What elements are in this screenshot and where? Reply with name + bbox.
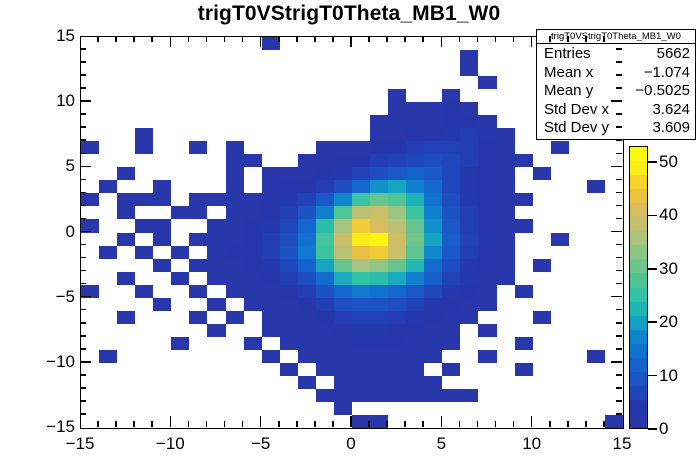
x-axis-top-tick — [531, 36, 533, 47]
x-axis-major-tick — [170, 416, 172, 427]
x-axis-top-tick — [206, 36, 208, 42]
y-axis-minor-tick — [80, 322, 86, 324]
z-axis-tick-label: 20 — [659, 312, 678, 332]
y-axis-minor-tick — [80, 179, 86, 181]
y-axis-minor-tick — [80, 413, 86, 415]
z-axis-tick — [648, 321, 657, 323]
y-axis-minor-tick — [80, 257, 86, 259]
x-axis-top-tick — [477, 36, 479, 42]
z-axis-tick — [648, 268, 657, 270]
x-axis-minor-tick — [404, 421, 406, 427]
x-axis-tick-label: 10 — [522, 434, 541, 454]
x-axis-minor-tick — [115, 421, 117, 427]
y-axis-right-tick — [616, 348, 622, 350]
x-axis-minor-tick — [133, 421, 135, 427]
y-axis-major-tick — [80, 166, 91, 168]
y-axis-minor-tick — [80, 139, 86, 141]
y-axis-right-tick — [616, 179, 622, 181]
stats-row-value: −0.5025 — [635, 82, 690, 101]
x-axis-minor-tick — [495, 421, 497, 427]
y-axis-major-tick — [80, 296, 91, 298]
y-axis-right-tick — [616, 413, 622, 415]
stats-row-value: 3.624 — [652, 101, 690, 120]
x-axis-top-tick — [224, 36, 226, 42]
y-axis-minor-tick — [80, 61, 86, 63]
x-axis-tick-label: −5 — [251, 434, 270, 454]
stats-row-key: Mean y — [544, 82, 593, 101]
x-axis-minor-tick — [386, 421, 388, 427]
x-axis-top-tick — [97, 36, 99, 42]
y-axis-right-tick — [616, 87, 622, 89]
y-axis-right-tick — [616, 205, 622, 207]
x-axis-top-tick — [188, 36, 190, 42]
y-axis-right-tick — [616, 270, 622, 272]
x-axis-top-tick — [585, 36, 587, 42]
x-axis-tick-label: −10 — [156, 434, 185, 454]
y-axis-right-tick — [616, 218, 622, 220]
x-axis-minor-tick — [97, 421, 99, 427]
x-axis-top-tick — [513, 36, 515, 42]
root-canvas: trigT0VStrigT0Theta_MB1_W0 trigT0VStrigT… — [0, 0, 698, 476]
z-axis-tick-label: 10 — [659, 366, 678, 386]
x-axis-minor-tick — [549, 421, 551, 427]
y-axis-minor-tick — [80, 48, 86, 50]
x-axis-top-tick — [296, 36, 298, 42]
y-axis-minor-tick — [80, 387, 86, 389]
x-axis-top-tick — [441, 36, 443, 47]
y-axis-right-tick — [616, 387, 622, 389]
x-axis-minor-tick — [296, 421, 298, 427]
z-axis-tick — [648, 428, 657, 430]
x-axis-top-tick — [422, 36, 424, 42]
stats-row: Std Dev x3.624 — [544, 101, 690, 120]
x-axis-major-tick — [260, 416, 262, 427]
y-axis-right-tick — [616, 113, 622, 115]
stats-row-value: 5662 — [657, 45, 690, 64]
x-axis-tick-label: 15 — [613, 434, 632, 454]
stats-row-key: Std Dev x — [544, 101, 609, 120]
y-axis-right-tick — [616, 283, 622, 285]
x-axis-minor-tick — [422, 421, 424, 427]
x-axis-top-tick — [350, 36, 352, 47]
y-axis-minor-tick — [80, 348, 86, 350]
x-axis-top-tick — [549, 36, 551, 42]
x-axis-top-tick — [133, 36, 135, 42]
x-axis-minor-tick — [314, 421, 316, 427]
y-axis-minor-tick — [80, 205, 86, 207]
y-axis-tick-label: 0 — [43, 222, 75, 242]
x-axis-top-tick — [278, 36, 280, 42]
y-axis-right-tick — [611, 100, 622, 102]
x-axis-top-tick — [495, 36, 497, 42]
z-axis-tick-label: 50 — [659, 152, 678, 172]
x-axis-minor-tick — [368, 421, 370, 427]
x-axis-top-tick — [603, 36, 605, 42]
color-scale-gradient — [630, 147, 647, 428]
x-axis-top-tick — [151, 36, 153, 42]
y-axis-minor-tick — [80, 192, 86, 194]
y-axis-right-tick — [611, 361, 622, 363]
z-axis-tick-label: 30 — [659, 259, 678, 279]
x-axis-top-tick — [404, 36, 406, 42]
y-axis-right-tick — [616, 374, 622, 376]
x-axis-minor-tick — [332, 421, 334, 427]
y-axis-minor-tick — [80, 153, 86, 155]
stats-row-value: 3.609 — [652, 119, 690, 138]
stats-box-body: Entries5662Mean x−1.074Mean y−0.5025Std … — [537, 44, 695, 139]
y-axis-minor-tick — [80, 126, 86, 128]
stats-box: trigT0VStrigT0Theta_MB1_W0 Entries5662Me… — [536, 29, 696, 140]
y-axis-minor-tick — [80, 218, 86, 220]
x-axis-minor-tick — [242, 421, 244, 427]
y-axis-right-tick — [616, 335, 622, 337]
y-axis-right-tick — [616, 257, 622, 259]
y-axis-right-tick — [616, 139, 622, 141]
y-axis-right-tick — [611, 166, 622, 168]
x-axis-minor-tick — [585, 421, 587, 427]
x-axis-top-tick — [386, 36, 388, 42]
x-axis-top-tick — [332, 36, 334, 42]
y-axis-tick-label: 10 — [43, 91, 75, 111]
y-axis-minor-tick — [80, 270, 86, 272]
x-axis-minor-tick — [603, 421, 605, 427]
y-axis-tick-label: −15 — [43, 417, 75, 437]
y-axis-right-tick — [611, 231, 622, 233]
y-axis-right-tick — [616, 153, 622, 155]
x-axis-top-tick — [459, 36, 461, 42]
y-axis-minor-tick — [80, 400, 86, 402]
x-axis-minor-tick — [459, 421, 461, 427]
stats-box-title: trigT0VStrigT0Theta_MB1_W0 — [537, 30, 695, 44]
y-axis-minor-tick — [80, 335, 86, 337]
x-axis-top-tick — [567, 36, 569, 42]
y-axis-major-tick — [80, 231, 91, 233]
x-axis-minor-tick — [477, 421, 479, 427]
stats-row-key: Std Dev y — [544, 119, 609, 138]
z-axis-tick-label: 0 — [659, 419, 668, 439]
y-axis-right-tick — [616, 192, 622, 194]
x-axis-minor-tick — [513, 421, 515, 427]
z-axis-tick — [648, 161, 657, 163]
y-axis-right-tick — [616, 48, 622, 50]
x-axis-major-tick — [350, 416, 352, 427]
y-axis-right-tick — [616, 309, 622, 311]
z-axis-tick — [648, 375, 657, 377]
y-axis-minor-tick — [80, 87, 86, 89]
y-axis-right-tick — [616, 126, 622, 128]
y-axis-right-tick — [616, 244, 622, 246]
x-axis-tick-label: 0 — [346, 434, 355, 454]
x-axis-minor-tick — [278, 421, 280, 427]
y-axis-tick-label: −10 — [43, 352, 75, 372]
stats-row-value: −1.074 — [644, 64, 690, 83]
stats-row-key: Mean x — [544, 64, 593, 83]
y-axis-tick-label: 5 — [43, 156, 75, 176]
y-axis-minor-tick — [80, 374, 86, 376]
x-axis-top-tick — [170, 36, 172, 47]
x-axis-minor-tick — [151, 421, 153, 427]
x-axis-minor-tick — [224, 421, 226, 427]
y-axis-minor-tick — [80, 309, 86, 311]
stats-row: Mean x−1.074 — [544, 64, 690, 83]
y-axis-minor-tick — [80, 74, 86, 76]
x-axis-tick-label: −15 — [66, 434, 95, 454]
x-axis-top-tick — [115, 36, 117, 42]
y-axis-minor-tick — [80, 113, 86, 115]
y-axis-right-tick — [616, 74, 622, 76]
y-axis-minor-tick — [80, 283, 86, 285]
stats-row: Mean y−0.5025 — [544, 82, 690, 101]
z-axis-tick — [648, 215, 657, 217]
y-axis-tick-label: −5 — [43, 287, 75, 307]
x-axis-top-tick — [242, 36, 244, 42]
stats-row: Std Dev y3.609 — [544, 119, 690, 138]
y-axis-right-tick — [616, 400, 622, 402]
y-axis-major-tick — [80, 361, 91, 363]
color-scale-bar — [629, 146, 648, 429]
z-axis-tick-label: 40 — [659, 205, 678, 225]
page-title: trigT0VStrigT0Theta_MB1_W0 — [0, 2, 698, 26]
x-axis-minor-tick — [206, 421, 208, 427]
x-axis-top-tick — [260, 36, 262, 47]
x-axis-major-tick — [531, 416, 533, 427]
x-axis-top-tick — [314, 36, 316, 42]
y-axis-tick-label: 15 — [43, 26, 75, 46]
y-axis-major-tick — [80, 100, 91, 102]
x-axis-top-tick — [368, 36, 370, 42]
y-axis-minor-tick — [80, 244, 86, 246]
y-axis-right-tick — [611, 296, 622, 298]
stats-row-key: Entries — [544, 45, 591, 64]
x-axis-minor-tick — [567, 421, 569, 427]
y-axis-right-tick — [616, 61, 622, 63]
x-axis-minor-tick — [188, 421, 190, 427]
y-axis-right-tick — [616, 322, 622, 324]
x-axis-major-tick — [441, 416, 443, 427]
x-axis-tick-label: 5 — [437, 434, 446, 454]
